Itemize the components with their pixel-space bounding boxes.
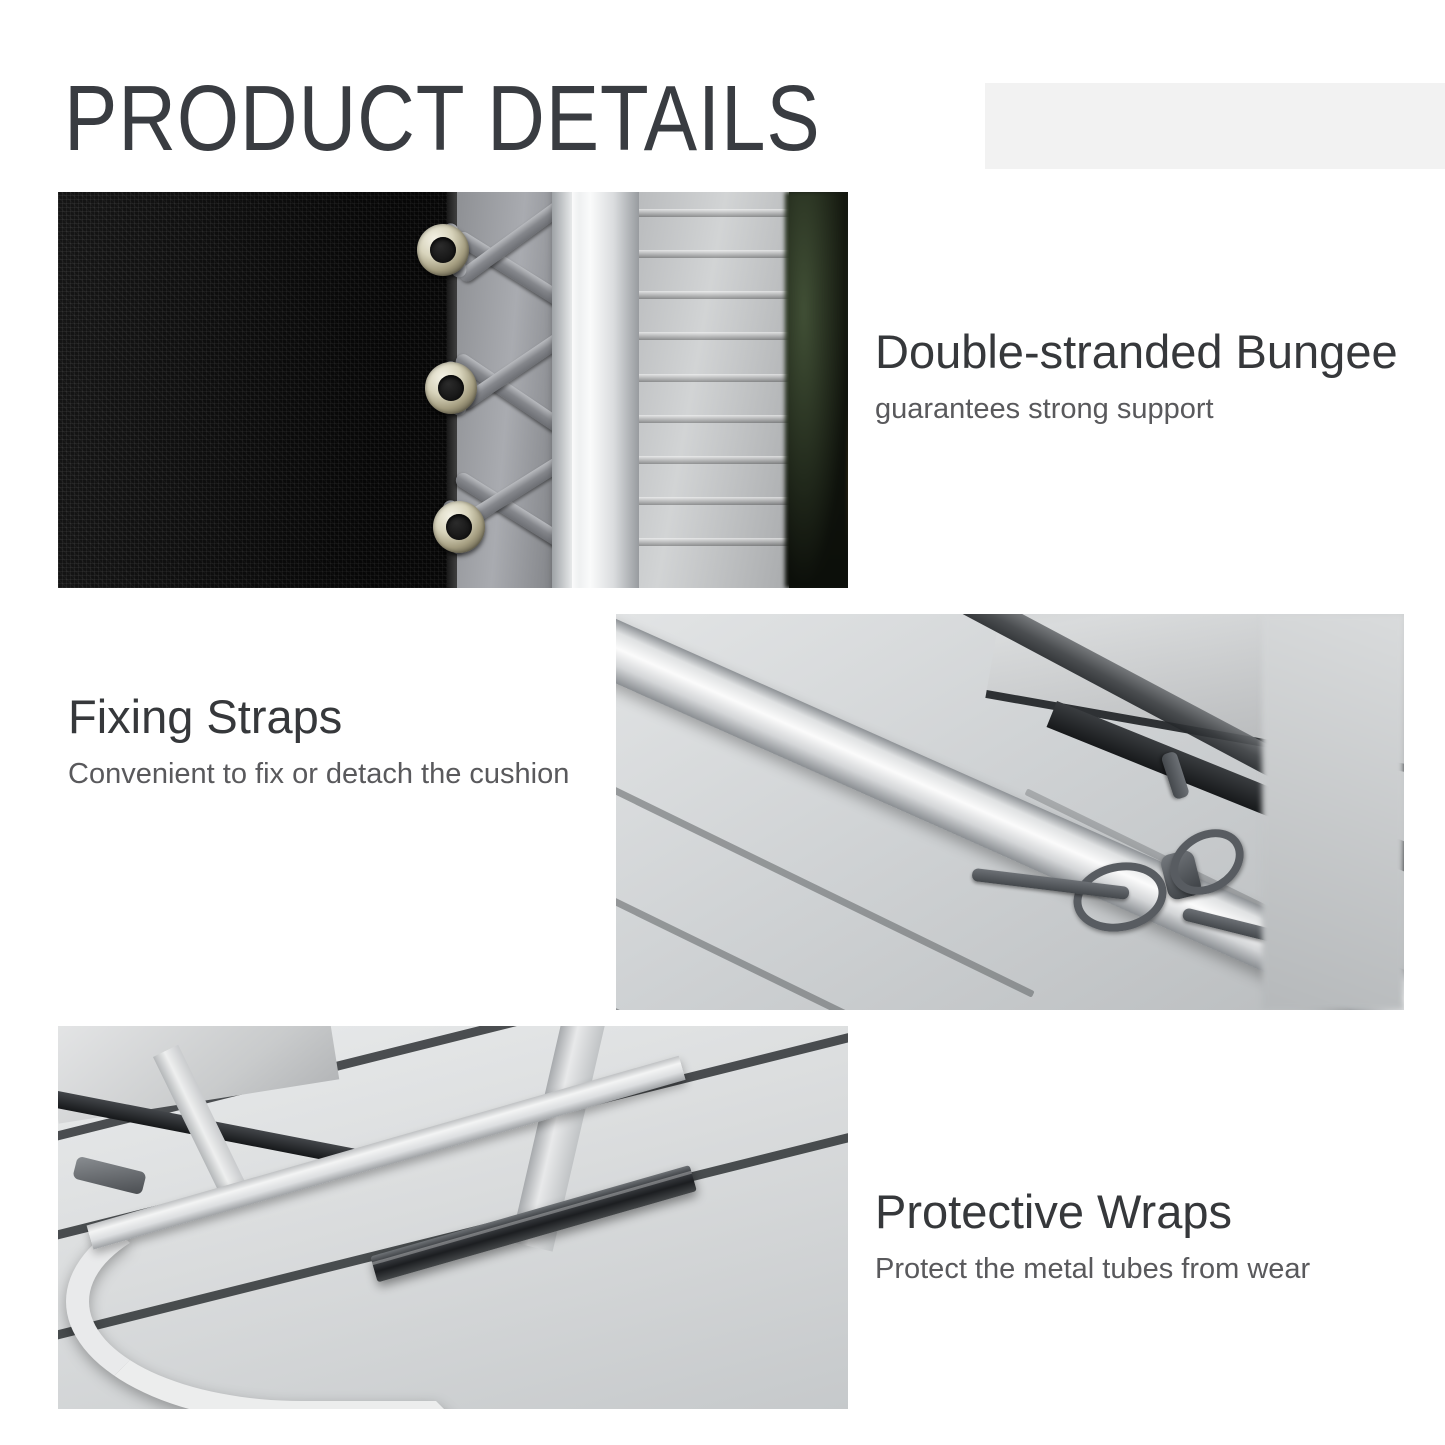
header-accent-band (985, 83, 1445, 169)
bungee-photo (58, 192, 848, 588)
metal-grommet (433, 501, 485, 553)
blurred-deck-edge (1262, 614, 1404, 1010)
protective-wraps-photo (58, 1026, 848, 1409)
pleated-gray-cushion (639, 192, 789, 588)
fixing-straps-photo (616, 614, 1404, 1010)
feature-caption-protective-wraps: Protective Wraps Protect the metal tubes… (875, 1185, 1310, 1287)
feature-image-protective-wraps (58, 1026, 848, 1409)
product-details-page: PRODUCT DETAILS (0, 0, 1445, 1445)
feature-title: Fixing Straps (68, 690, 569, 744)
page-title: PRODUCT DETAILS (64, 70, 821, 166)
white-metal-tube (552, 192, 643, 588)
feature-caption-fixing-straps: Fixing Straps Convenient to fix or detac… (68, 690, 569, 792)
feature-caption-double-stranded-bungee: Double-stranded Bungee guarantees strong… (875, 325, 1398, 427)
feature-subtitle: guarantees strong support (875, 391, 1398, 427)
blurred-foliage-background (785, 192, 848, 588)
feature-subtitle: Protect the metal tubes from wear (875, 1251, 1310, 1287)
metal-grommet (417, 224, 469, 276)
feature-image-fixing-straps (616, 614, 1404, 1010)
feature-title: Double-stranded Bungee (875, 325, 1398, 379)
feature-subtitle: Convenient to fix or detach the cushion (68, 756, 569, 792)
black-mesh-fabric (58, 192, 453, 588)
feature-image-double-stranded-bungee (58, 192, 848, 588)
feature-title: Protective Wraps (875, 1185, 1310, 1239)
